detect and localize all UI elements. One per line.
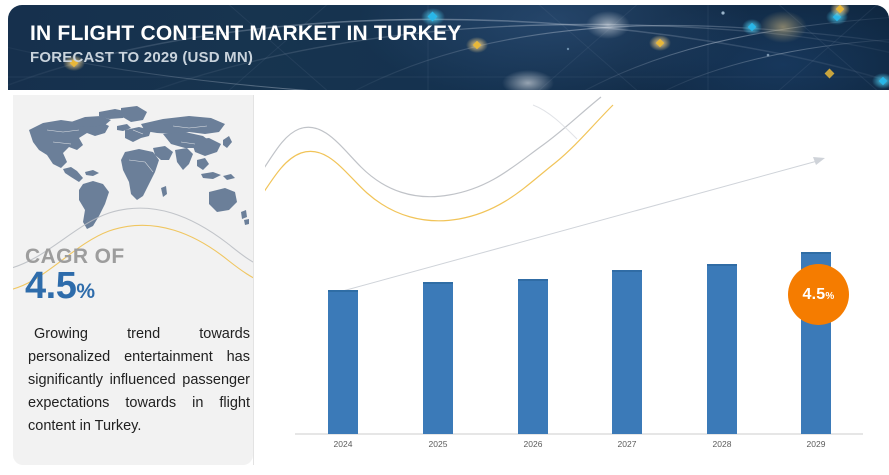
cagr-value-row: 4.5%: [25, 266, 245, 312]
bar-2027: [612, 270, 642, 434]
x-tick-2024: 2024: [313, 439, 373, 449]
infographic-root: IN FLIGHT CONTENT MARKET IN TURKEY FOREC…: [0, 0, 889, 475]
x-tick-2026: 2026: [503, 439, 563, 449]
cagr-bubble-percent: %: [825, 291, 834, 302]
header-text-block: IN FLIGHT CONTENT MARKET IN TURKEY FOREC…: [30, 22, 461, 67]
world-map-icon: [13, 100, 253, 235]
x-tick-2025: 2025: [408, 439, 468, 449]
x-tick-2027: 2027: [597, 439, 657, 449]
cagr-bubble: 4.5%: [788, 264, 849, 325]
bar-2025: [423, 282, 453, 434]
page-title: IN FLIGHT CONTENT MARKET IN TURKEY: [30, 22, 461, 46]
left-summary-card: CAGR OF 4.5% Growing trend towards perso…: [13, 95, 253, 465]
cagr-percent-symbol: %: [76, 280, 95, 303]
bar-2024: [328, 290, 358, 434]
header-banner: IN FLIGHT CONTENT MARKET IN TURKEY FOREC…: [8, 5, 889, 90]
panel-divider: [253, 95, 254, 465]
x-tick-2029: 2029: [786, 439, 846, 449]
description-text: Growing trend towards personalized enter…: [28, 323, 250, 438]
bars-group: [328, 252, 831, 434]
chart-panel: 4.5% 2024 2025 2026 2027 2028 2029: [265, 95, 889, 465]
x-tick-2028: 2028: [692, 439, 752, 449]
page-subtitle: FORECAST TO 2029 (USD MN): [30, 48, 461, 67]
cagr-value: 4.5: [25, 265, 76, 307]
bar-top-highlights: [328, 252, 831, 292]
bar-2026: [518, 279, 548, 434]
cagr-block: CAGR OF 4.5%: [25, 245, 245, 312]
bar-2028: [707, 264, 737, 434]
world-map-graphic: [13, 100, 253, 235]
cagr-bubble-value: 4.5: [803, 286, 826, 303]
cagr-bubble-text: 4.5%: [803, 286, 835, 304]
